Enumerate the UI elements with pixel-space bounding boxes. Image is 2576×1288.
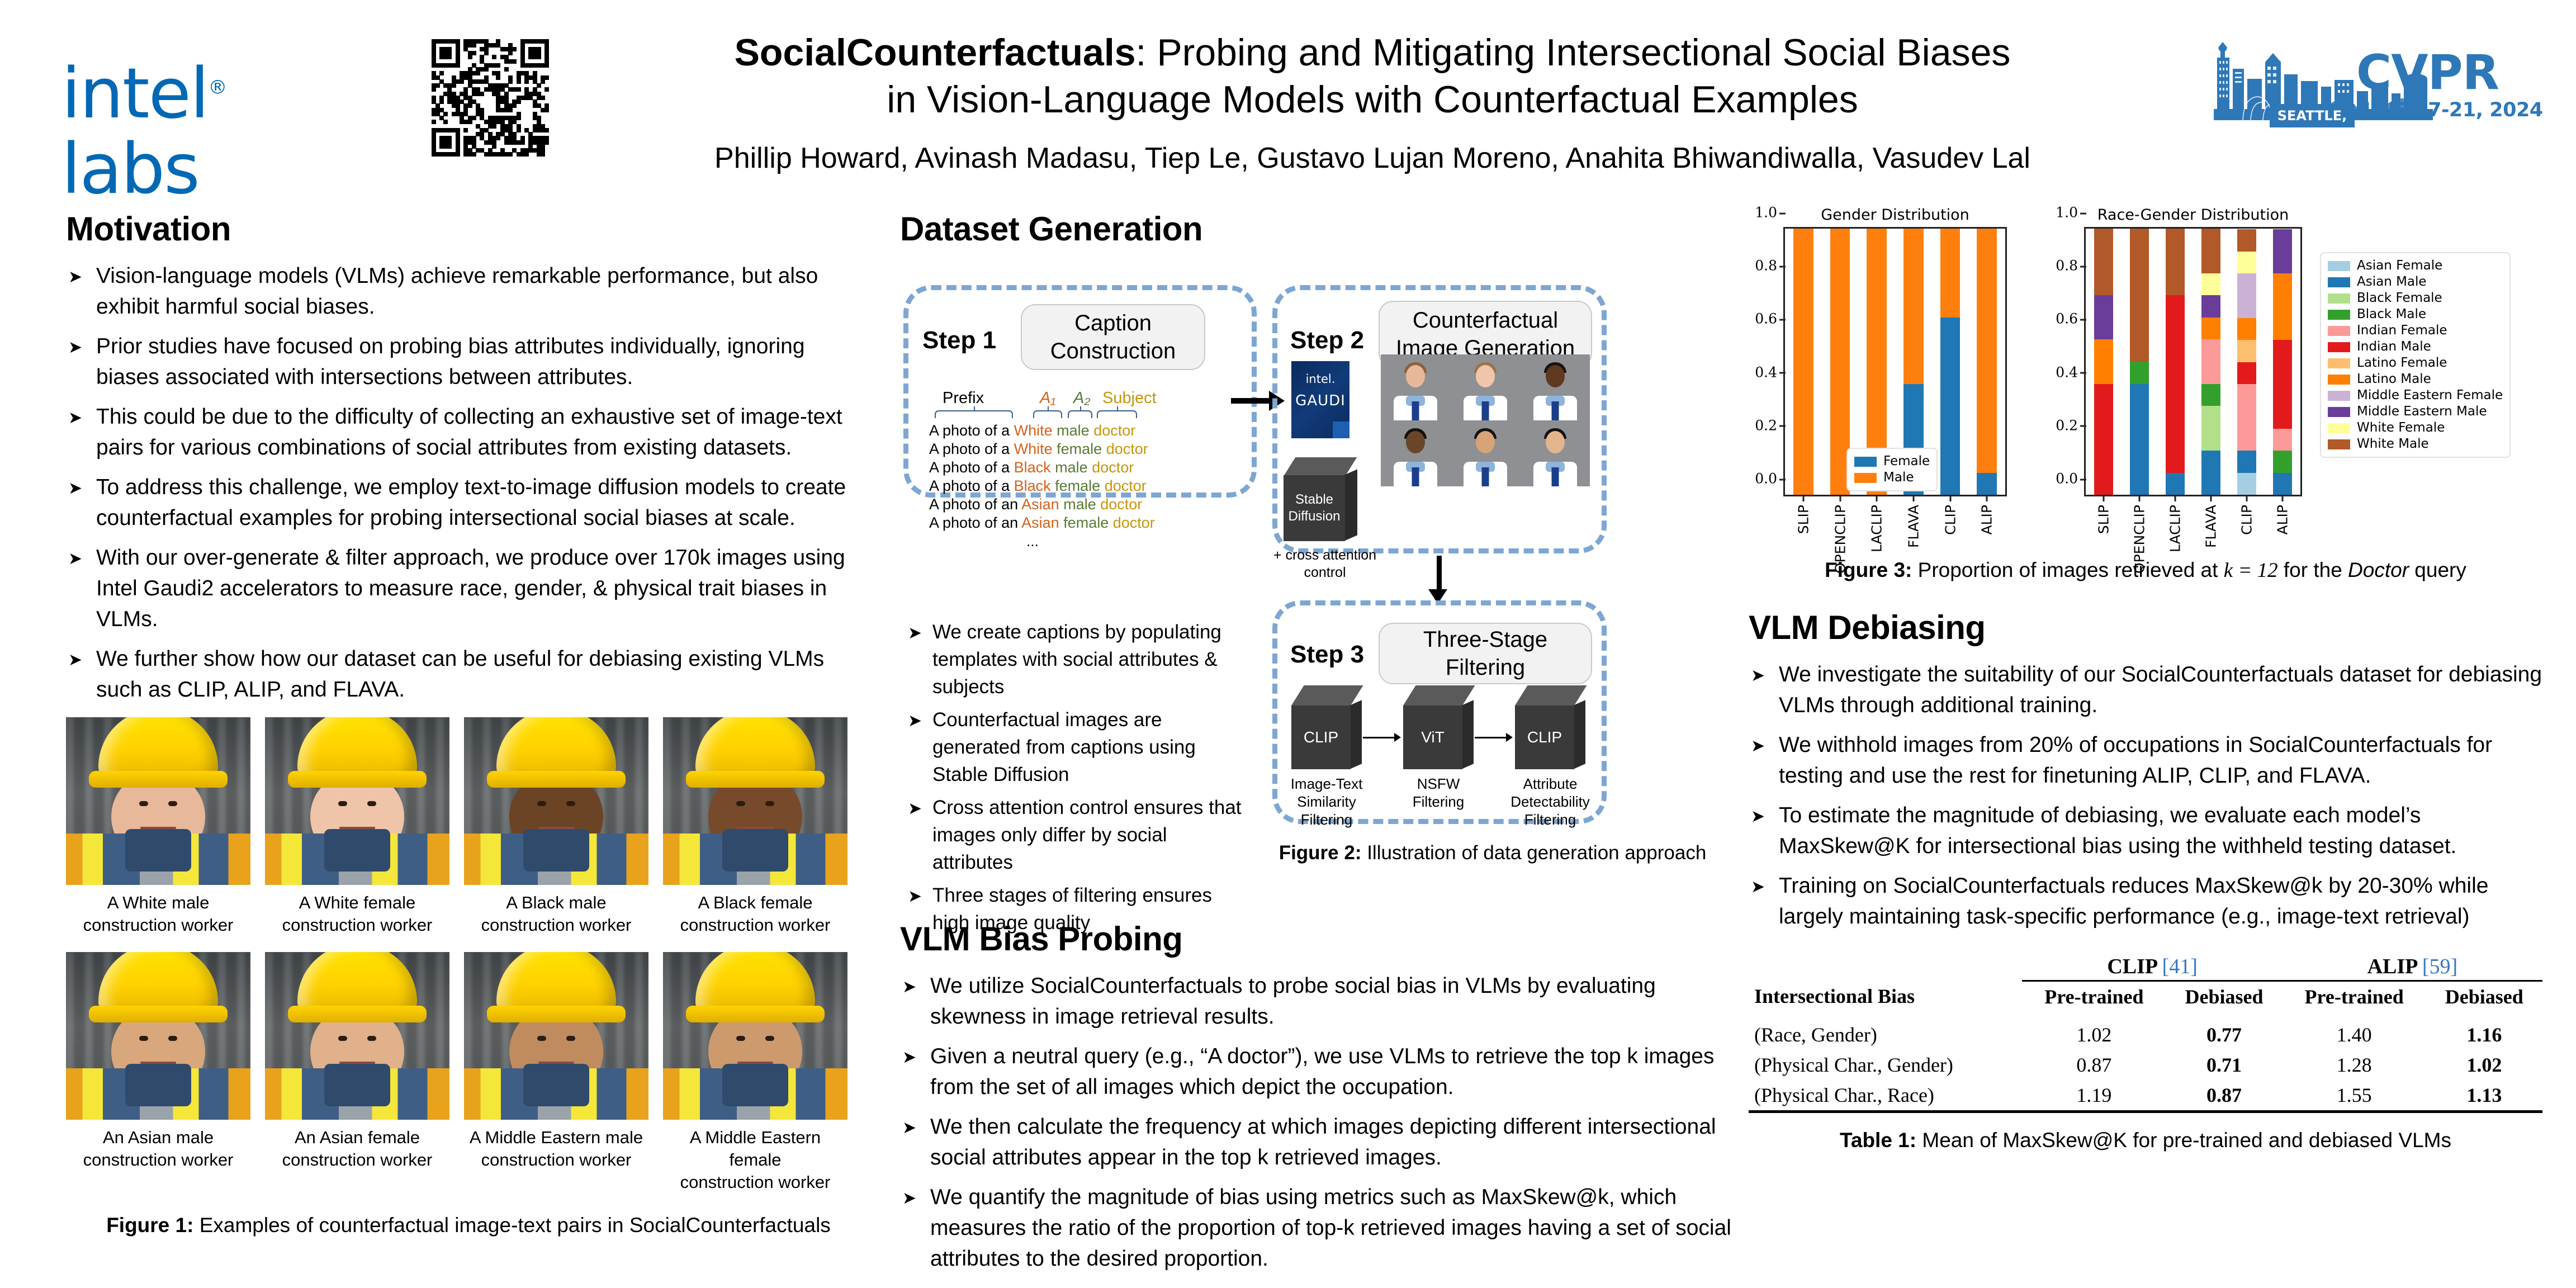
generated-doctor-image xyxy=(1381,420,1451,486)
cvpr-dates: JUNE 17-21, 2024 xyxy=(2356,99,2543,121)
gaudi-text: GAUDI xyxy=(1291,392,1349,409)
figure-1-cell: A White femaleconstruction worker xyxy=(265,717,449,936)
row-subject: doctor xyxy=(1100,496,1142,513)
photo-collar xyxy=(324,829,390,872)
y-axis-tick-label: 1.0 xyxy=(1755,205,1785,221)
dataset-generation-bullet-item: Counterfactual images are generated from… xyxy=(906,706,1252,788)
table-cell-value: 1.19 xyxy=(2022,1080,2166,1112)
motivation-bullet-list: Vision-language models (VLMs) achieve re… xyxy=(66,261,871,705)
x-axis-tick-label: FLAVA xyxy=(1905,505,1921,548)
stacked-bar xyxy=(2094,229,2114,495)
counterfactual-photo xyxy=(66,717,250,885)
table-spacer-row xyxy=(1749,1012,2542,1020)
doctor-tie xyxy=(1481,401,1489,420)
race-gender-chart-title: Race-Gender Distribution xyxy=(2084,206,2302,224)
x-tick-mark xyxy=(1912,495,1914,501)
doctor-tie xyxy=(1551,401,1559,420)
x-tick-mark xyxy=(1986,495,1988,501)
cube-side-face xyxy=(1349,700,1362,769)
bar-segment xyxy=(2273,451,2293,473)
x-axis-tick-label: LACLIP xyxy=(1869,505,1885,552)
poster-title-line-1: SocialCounterfactuals: Probing and Mitig… xyxy=(565,29,2180,76)
legend-swatch xyxy=(2328,310,2350,320)
row-prefix: A photo of a xyxy=(929,422,1014,439)
bar-segment xyxy=(2273,229,2293,273)
author-list: Phillip Howard, Avinash Madasu, Tiep Le,… xyxy=(565,141,2180,176)
bar-slot: SLIP xyxy=(2086,229,2122,495)
table-1-caption: Table 1: Mean of MaxSkew@K for pre-train… xyxy=(1749,1129,2542,1152)
table-cell-value: 1.40 xyxy=(2283,1020,2426,1050)
row-subject: doctor xyxy=(1105,477,1147,494)
legend-swatch xyxy=(2328,261,2350,271)
photo-eye-right xyxy=(765,1036,774,1041)
table-cell-value: 1.16 xyxy=(2426,1020,2542,1050)
cube-label: CLIP xyxy=(1291,705,1351,769)
legend-entry: Middle Eastern Male xyxy=(2328,404,2503,420)
y-axis-tick-label: 0.0 xyxy=(2056,471,2086,487)
row-prefix: A photo of a xyxy=(929,441,1014,457)
bar-slot: SLIP xyxy=(1785,229,1822,495)
cube-top-face xyxy=(1284,457,1357,476)
poster-title-keyword: SocialCounterfactuals xyxy=(735,31,1136,74)
legend-swatch xyxy=(2328,439,2350,449)
bar-segment xyxy=(2237,384,2257,451)
race-gender-chart-legend: Asian FemaleAsian MaleBlack FemaleBlack … xyxy=(2320,252,2511,458)
x-axis-tick-label: LACLIP xyxy=(2167,505,2184,552)
x-axis-tick: LACLIP xyxy=(2167,495,2184,552)
figure-1-cell: A White maleconstruction worker xyxy=(66,717,250,936)
bar-segment xyxy=(2237,362,2257,385)
bar-segment xyxy=(1940,229,1960,318)
hard-hat-brim xyxy=(89,771,228,788)
legend-label: Male xyxy=(1883,470,1914,486)
debiasing-heading: VLM Debiasing xyxy=(1749,608,2542,647)
doctor-face xyxy=(1406,431,1425,453)
generated-doctor-image xyxy=(1451,420,1521,486)
group-name: ALIP xyxy=(2367,955,2417,978)
x-axis-tick-label: ALIP xyxy=(1979,505,1995,534)
legend-label: Black Male xyxy=(2357,306,2426,323)
subheader-1: Debiased xyxy=(2166,981,2282,1012)
legend-label: Middle Eastern Female xyxy=(2357,387,2503,404)
row-prefix: A photo of an xyxy=(929,496,1021,513)
stacked-bar xyxy=(1977,229,1996,495)
row-subject: doctor xyxy=(1106,441,1148,457)
bar-segment xyxy=(2201,406,2221,450)
caption-line-1: A Black male xyxy=(464,892,648,914)
row-a1: Asian xyxy=(1021,496,1063,513)
legend-label: White Male xyxy=(2357,436,2429,452)
table-row: (Physical Char., Gender)0.870.711.281.02 xyxy=(1749,1050,2542,1080)
row-a1: Black xyxy=(1014,459,1055,476)
arrow-step1-to-step2-icon xyxy=(1231,398,1270,404)
hard-hat-brim xyxy=(288,1006,427,1022)
bar-slot: ALIP xyxy=(1968,229,2005,495)
group-reference: [41] xyxy=(2162,955,2198,978)
bar-segment xyxy=(2237,273,2257,318)
legend-swatch xyxy=(1854,473,1877,483)
figure-1: A White maleconstruction workerA White f… xyxy=(66,717,871,1237)
bar-segment xyxy=(2094,229,2114,295)
column-right: Gender Distribution SLIPOPENCLIPLACLIPFL… xyxy=(1749,210,2542,1152)
figure-1-cell: A Middle Eastern femaleconstruction work… xyxy=(663,952,847,1194)
photo-eye-right xyxy=(566,801,575,806)
step-2-label: Step 2 xyxy=(1290,326,1364,354)
legend-swatch xyxy=(2328,293,2350,304)
x-tick-mark xyxy=(2175,495,2176,501)
cube-top-face xyxy=(1291,685,1363,705)
stacked-bar xyxy=(2273,229,2293,495)
figure-1-cell: An Asian femaleconstruction worker xyxy=(265,952,449,1194)
filter-stage-cube-icon: ViT xyxy=(1403,685,1474,769)
photo-collar xyxy=(523,829,589,872)
y-axis-tick-label: 0.8 xyxy=(1755,258,1785,274)
legend-entry: White Female xyxy=(2328,420,2503,436)
x-axis-tick: ALIP xyxy=(2275,495,2291,534)
x-tick-mark xyxy=(2139,495,2141,501)
caption-line-1: An Asian female xyxy=(265,1126,449,1149)
legend-entry: Black Female xyxy=(2328,290,2503,306)
legend-label: Asian Male xyxy=(2357,274,2427,290)
figure-1-cell-caption: An Asian femaleconstruction worker xyxy=(265,1126,449,1171)
cube-side-face xyxy=(1344,469,1357,541)
y-axis-tick-label: 0.2 xyxy=(2056,417,2086,433)
photo-eye-right xyxy=(168,801,177,806)
dataset-generation-heading: Dataset Generation xyxy=(900,210,1739,248)
bar-slot: LACLIP xyxy=(2157,229,2193,495)
intel-gaudi-logo: intel. GAUDI xyxy=(1291,361,1349,438)
legend-entry: Male xyxy=(1854,470,1930,486)
filter-stage-cube-icon: CLIP xyxy=(1515,685,1585,769)
legend-label: White Female xyxy=(2357,420,2445,436)
motivation-bullet-item: Vision-language models (VLMs) achieve re… xyxy=(66,261,871,322)
figure-3-caption-italic: Doctor xyxy=(2348,558,2409,581)
poster-title-line-2: in Vision-Language Models with Counterfa… xyxy=(565,76,2180,123)
generated-doctor-images-grid xyxy=(1381,354,1590,486)
cube-top-face xyxy=(1515,685,1587,705)
row-a2: male xyxy=(1063,496,1100,513)
brace-a2-icon xyxy=(1068,410,1092,418)
legend-swatch xyxy=(2328,423,2350,433)
bar-segment xyxy=(2201,318,2221,340)
subheader-0: Pre-trained xyxy=(2022,981,2166,1012)
arrow-step2-to-step3-icon xyxy=(1437,556,1442,590)
legend-swatch xyxy=(2328,358,2350,368)
legend-swatch xyxy=(2328,342,2350,352)
bar-segment xyxy=(2273,429,2293,451)
bar-segment xyxy=(1903,229,1923,384)
legend-swatch xyxy=(2328,391,2350,401)
photo-collar xyxy=(125,1064,191,1106)
legend-entry: Asian Male xyxy=(2328,274,2503,290)
photo-eye-left xyxy=(537,801,546,806)
bar-segment xyxy=(2237,473,2257,495)
caption-template-row: A photo of a Black male doctor xyxy=(929,458,1155,477)
debiasing-bullet-item: We withhold images from 20% of occupatio… xyxy=(1749,730,2542,791)
figure-1-row-top: A White maleconstruction workerA White f… xyxy=(66,717,871,936)
bar-slot: CLIP xyxy=(2229,229,2265,495)
figure-1-row-bottom: An Asian maleconstruction workerAn Asian… xyxy=(66,952,871,1194)
stacked-bar xyxy=(1793,229,1813,495)
motivation-bullet-item: We further show how our dataset can be u… xyxy=(66,643,871,705)
bar-segment xyxy=(2201,451,2221,495)
photo-eye-left xyxy=(537,1036,546,1041)
caption-template-row: A photo of an Asian female doctor xyxy=(929,514,1155,532)
bar-slot: OPENCLIP xyxy=(2122,229,2157,495)
x-axis-tick-label: SLIP xyxy=(1795,505,1811,534)
cube-side-face xyxy=(1461,700,1474,769)
row-a2: female xyxy=(1063,514,1113,531)
brace-a1-icon xyxy=(1033,410,1062,418)
step-3-box: Three-Stage Filtering xyxy=(1379,623,1592,684)
x-axis-tick: OPENCLIP xyxy=(2132,495,2148,574)
cube-side-face xyxy=(1573,700,1585,769)
figure-1-cell-caption: A White maleconstruction worker xyxy=(66,892,250,936)
y-axis-tick-label: 0.4 xyxy=(2056,364,2086,380)
caption-line-2: construction worker xyxy=(663,1171,847,1194)
bar-slot: FLAVA xyxy=(2193,229,2229,495)
cube-label: ViT xyxy=(1403,705,1462,769)
counterfactual-photo xyxy=(66,952,250,1120)
figure-2-diagram: Step 1 Caption Construction Prefix A₁ A₂… xyxy=(900,261,1739,912)
x-axis-tick-label: OPENCLIP xyxy=(2132,505,2148,574)
legend-label: Latino Male xyxy=(2357,371,2431,387)
caption-line-2: construction worker xyxy=(464,1149,648,1171)
photo-eye-right xyxy=(367,801,376,806)
bar-segment xyxy=(1977,229,1996,472)
caption-line-2: construction worker xyxy=(265,914,449,936)
step-3-label: Step 3 xyxy=(1290,641,1364,669)
figure-2-caption: Figure 2: Illustration of data generatio… xyxy=(1247,842,1739,864)
filter-arrow-icon xyxy=(1363,737,1395,738)
maxskew-results-table: CLIP [41] ALIP [59] Intersectional Bias … xyxy=(1749,951,2542,1113)
figure-1-cell: A Middle Eastern maleconstruction worker xyxy=(464,952,648,1194)
filter-stage-caption: Attribute Detectability Filtering xyxy=(1508,775,1592,828)
counterfactual-photo xyxy=(464,952,648,1120)
registered-mark-icon: ® xyxy=(208,77,226,99)
x-axis-tick: SLIP xyxy=(1795,495,1811,534)
caption-line-1: A White female xyxy=(265,892,449,914)
x-axis-tick-label: SLIP xyxy=(2096,505,2112,534)
row-a2: female xyxy=(1057,441,1106,457)
bias-probing-bullet-item: We then calculate the frequency at which… xyxy=(900,1111,1739,1173)
cvpr-wordmark: CVPR xyxy=(2356,49,2543,97)
counterfactual-photo xyxy=(464,717,648,885)
doctor-tie xyxy=(1551,467,1559,486)
figure-1-cell: A Black maleconstruction worker xyxy=(464,717,648,936)
photo-eye-right xyxy=(168,1036,177,1041)
x-tick-mark xyxy=(1949,495,1951,501)
x-axis-tick: LACLIP xyxy=(1869,495,1885,552)
legend-label: Indian Female xyxy=(2357,323,2447,339)
doctor-face xyxy=(1546,365,1565,387)
table-cell-value: 0.87 xyxy=(2022,1050,2166,1080)
caption-line-2: construction worker xyxy=(464,914,648,936)
figure-1-cell-caption: A Black femaleconstruction worker xyxy=(663,892,847,936)
hard-hat-brim xyxy=(686,1006,825,1022)
debiasing-bullet-item: Training on SocialCounterfactuals reduce… xyxy=(1749,870,2542,932)
figure-1-cell-caption: A Middle Eastern femaleconstruction work… xyxy=(663,1126,847,1194)
intel-labs-logo: intel® labs xyxy=(61,50,380,126)
x-tick-mark xyxy=(2282,495,2284,501)
dataset-generation-bullet-item: Cross attention control ensures that ima… xyxy=(906,794,1252,876)
step-1-label: Step 1 xyxy=(922,326,996,354)
bar-segment xyxy=(2130,362,2149,384)
col-header-a2: A₂ xyxy=(1073,389,1090,408)
brace-prefix-icon xyxy=(935,410,1013,418)
table-cell-value: 1.28 xyxy=(2283,1050,2426,1080)
figure-1-caption-text: Examples of counterfactual image-text pa… xyxy=(193,1214,830,1237)
table-1-caption-text: Mean of MaxSkew@K for pre-trained and de… xyxy=(1916,1129,2451,1152)
group-name: CLIP xyxy=(2107,955,2157,978)
figure-3-caption-part2: for the xyxy=(2278,558,2348,581)
x-axis-tick-label: ALIP xyxy=(2275,505,2291,534)
x-axis-tick: FLAVA xyxy=(2203,495,2219,548)
race-gender-distribution-chart: Race-Gender Distribution SLIPOPENCLIPLAC… xyxy=(2084,206,2302,496)
legend-label: Middle Eastern Male xyxy=(2357,404,2487,420)
row-a2: female xyxy=(1055,477,1105,494)
hard-hat-brim xyxy=(487,771,626,788)
legend-swatch xyxy=(2328,277,2350,287)
caption-line-1: A White male xyxy=(66,892,250,914)
caption-line-2: construction worker xyxy=(66,1149,250,1171)
table-row: (Physical Char., Race)1.190.871.551.13 xyxy=(1749,1080,2542,1112)
row-subject: doctor xyxy=(1093,422,1135,439)
bar-slot: ALIP xyxy=(2265,229,2300,495)
figure-2-caption-text: Illustration of data generation approach xyxy=(1361,842,1706,864)
filter-stage-cube-icon: CLIP xyxy=(1291,685,1362,769)
legend-label: Asian Female xyxy=(2357,258,2442,274)
legend-label: Female xyxy=(1883,453,1930,470)
stacked-bar xyxy=(2201,229,2221,495)
x-tick-mark xyxy=(1839,495,1841,501)
row-a1: White xyxy=(1014,441,1057,457)
legend-entry: Middle Eastern Female xyxy=(2328,387,2503,404)
y-axis-tick-label: 0.6 xyxy=(1755,311,1785,327)
doctor-face xyxy=(1476,431,1495,453)
row-prefix: A photo of a xyxy=(929,477,1014,494)
figure-3-charts: Gender Distribution SLIPOPENCLIPLACLIPFL… xyxy=(1749,206,2542,542)
legend-swatch xyxy=(1854,457,1877,467)
generated-doctor-image xyxy=(1381,354,1451,420)
doctor-tie xyxy=(1481,467,1489,486)
gender-chart-legend: FemaleMale xyxy=(1846,448,1938,491)
gender-distribution-chart: Gender Distribution SLIPOPENCLIPLACLIPFL… xyxy=(1783,206,2007,496)
column-middle: Dataset Generation Step 1 Caption Constr… xyxy=(900,210,1739,1283)
legend-entry: White Male xyxy=(2328,436,2503,452)
caption-line-1: A Black female xyxy=(663,892,847,914)
table-cell-value: 1.55 xyxy=(2283,1080,2426,1112)
bar-segment xyxy=(2273,273,2293,340)
cube-label: CLIP xyxy=(1515,705,1574,769)
legend-swatch xyxy=(2328,326,2350,336)
caption-line-1: An Asian male xyxy=(66,1126,250,1149)
figure-3-caption-part1: Proportion of images retrieved at xyxy=(1912,558,2223,581)
row-a1: White xyxy=(1014,422,1057,439)
doctor-face xyxy=(1546,431,1565,453)
figure-1-cell-caption: A Middle Eastern maleconstruction worker xyxy=(464,1126,648,1171)
bar-segment xyxy=(2130,384,2149,495)
legend-entry: Latino Female xyxy=(2328,355,2503,371)
generated-doctor-image xyxy=(1520,420,1590,486)
hard-hat-brim xyxy=(89,1006,228,1022)
photo-eye-right xyxy=(367,1036,376,1041)
bar-segment xyxy=(2237,252,2257,274)
y-axis-tick-label: 1.0 xyxy=(2056,205,2086,221)
col-header-a1: A₁ xyxy=(1040,389,1056,408)
legend-label: Black Female xyxy=(2357,290,2442,306)
debiasing-bullet-item: We investigate the suitability of our So… xyxy=(1749,659,2542,721)
col-header-prefix: Prefix xyxy=(943,389,984,408)
table-row: (Race, Gender)1.020.771.401.16 xyxy=(1749,1020,2542,1050)
x-axis-tick: OPENCLIP xyxy=(1832,495,1848,574)
table-cell-value: 0.87 xyxy=(2166,1080,2282,1112)
column-left: Motivation Vision-language models (VLMs)… xyxy=(66,210,871,1237)
subheader-3: Debiased xyxy=(2426,981,2542,1012)
caption-line-2: construction worker xyxy=(663,914,847,936)
figure-3-caption-part3: query xyxy=(2409,558,2466,581)
x-axis-tick-label: OPENCLIP xyxy=(1832,505,1848,574)
caption-template-row: A photo of a White male doctor xyxy=(929,422,1155,440)
y-axis-tick-label: 0.0 xyxy=(1755,471,1785,487)
bar-segment xyxy=(2237,229,2257,252)
bar-segment xyxy=(2094,295,2114,339)
legend-label: Latino Female xyxy=(2357,355,2447,371)
dataset-generation-bullet-item: Three stages of filtering ensures high i… xyxy=(906,882,1252,936)
cvpr-logo: CVPR JUNE 17-21, 2024 SEATTLE, WA xyxy=(2214,25,2549,131)
legend-swatch xyxy=(2328,375,2350,385)
row-a2: male xyxy=(1057,422,1093,439)
caption-template-row: A photo of a Black female doctor xyxy=(929,477,1155,495)
bar-segment xyxy=(1940,318,1960,495)
row-a1: Black xyxy=(1014,477,1055,494)
caption-template-table: Prefix A₁ A₂ Subject A photo of a White … xyxy=(929,389,1155,551)
stacked-bar xyxy=(2166,229,2185,495)
generated-doctor-image xyxy=(1520,354,1590,420)
motivation-bullet-item: To address this challenge, we employ tex… xyxy=(66,472,871,533)
group-header-clip: CLIP [41] xyxy=(2022,951,2282,981)
bar-segment xyxy=(2166,473,2185,495)
caption-line-1: A Middle Eastern male xyxy=(464,1126,648,1149)
legend-entry: Latino Male xyxy=(2328,371,2503,387)
bar-segment xyxy=(2094,339,2114,383)
photo-collar xyxy=(722,1064,788,1106)
table-row-label: (Physical Char., Race) xyxy=(1749,1080,2022,1112)
bar-segment xyxy=(2166,229,2185,295)
table-1-caption-label: Table 1: xyxy=(1840,1129,1916,1152)
col-header-subject: Subject xyxy=(1102,389,1157,408)
caption-line-2: construction worker xyxy=(66,914,250,936)
cvpr-text-block: CVPR JUNE 17-21, 2024 xyxy=(2356,49,2543,121)
legend-label: Indian Male xyxy=(2357,339,2431,355)
counterfactual-photo xyxy=(663,717,847,885)
x-axis-tick-label: CLIP xyxy=(2239,505,2255,535)
photo-eye-left xyxy=(736,1036,745,1041)
motivation-bullet-item: This could be due to the difficulty of c… xyxy=(66,401,871,463)
table-row-label: (Physical Char., Gender) xyxy=(1749,1050,2022,1080)
qr-code-icon[interactable] xyxy=(432,39,549,157)
row-prefix: A photo of a xyxy=(929,459,1014,476)
table-cell-value: 1.13 xyxy=(2426,1080,2542,1112)
bar-segment xyxy=(2237,451,2257,473)
counterfactual-photo xyxy=(663,952,847,1120)
bar-segment xyxy=(2201,295,2221,318)
stacked-bar xyxy=(2130,229,2149,495)
cvpr-location: SEATTLE, WA xyxy=(2270,104,2355,127)
gaudi-accent-square xyxy=(1333,422,1349,438)
poster-header: intel® labs SocialCounterfactuals: Probi… xyxy=(0,0,2576,193)
brace-subject-icon xyxy=(1097,410,1137,418)
